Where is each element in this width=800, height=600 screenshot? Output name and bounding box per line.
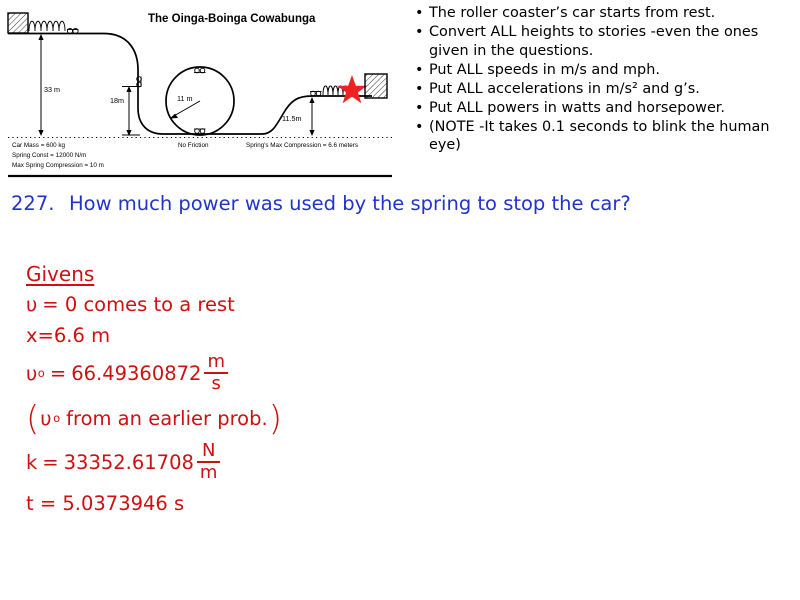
diagram-canvas: The Oinga-Boinga Cowabunga: [0, 0, 400, 185]
list-item-text: Put ALL powers in watts and horsepower.: [429, 100, 725, 116]
track-left: [8, 34, 246, 135]
list-item-text: (NOTE -It takes 0.1 seconds to blink the…: [429, 119, 769, 154]
fraction-numerator: m: [204, 353, 228, 372]
question-number: 227.: [11, 192, 69, 215]
bullet-icon: •: [415, 118, 424, 137]
instructions-list: • The roller coaster’s car starts from r…: [412, 4, 798, 155]
left-spring: [29, 21, 65, 31]
fraction-numerator: N: [199, 442, 218, 461]
car-right: [310, 91, 322, 96]
given-distance: x=6.6 m: [26, 326, 456, 346]
car-loop-top: [194, 68, 206, 73]
given-note-text: from an earlier prob.: [65, 409, 269, 429]
given-distance-text: x=6.6 m: [26, 326, 110, 346]
initial-velocity-value: 66.49360872: [71, 364, 201, 384]
list-item-text: Put ALL accelerations in m/s² and g’s.: [429, 81, 700, 97]
givens-heading: Givens: [26, 262, 94, 286]
label-height-mid: 18m: [110, 96, 124, 105]
list-item: • Put ALL accelerations in m/s² and g’s.: [412, 80, 798, 99]
fraction-denominator: s: [209, 374, 224, 393]
unit-newtons-per-meter: N m: [197, 442, 221, 482]
subscript-o: o: [53, 413, 61, 425]
upsilon-symbol: υ: [26, 364, 37, 384]
left-wall: [8, 13, 28, 33]
list-item-text: The roller coaster’s car starts from res…: [429, 5, 715, 21]
right-wall: [365, 74, 387, 98]
bullet-icon: •: [415, 61, 424, 80]
caption-no-friction: No Friction: [178, 142, 209, 149]
impact-star: [338, 76, 366, 103]
caption-car-mass: Car Mass = 600 kg: [12, 142, 66, 149]
unit-meters-per-second: m s: [204, 353, 228, 393]
equals-sign: =: [50, 364, 66, 384]
list-item-text: Put ALL speeds in m/s and mph.: [429, 62, 660, 78]
diagram-title: The Oinga-Boinga Cowabunga: [148, 13, 316, 25]
question-row: 227. How much power was used by the spri…: [0, 192, 800, 215]
upsilon-symbol: υ: [26, 295, 37, 315]
upsilon-symbol: υ: [39, 409, 52, 429]
caption-spring-const: Spring Const = 12000 N/m: [12, 152, 86, 159]
bullet-icon: •: [415, 99, 424, 118]
given-spring-constant: k = 33352.61708 N m: [26, 443, 456, 483]
list-item: • Put ALL powers in watts and horsepower…: [412, 99, 798, 118]
given-final-velocity-text: = 0 comes to a rest: [42, 295, 234, 315]
given-note: ( υo from an earlier prob. ): [26, 405, 456, 432]
given-time-text: t = 5.0373946 s: [26, 494, 184, 514]
list-item: • (NOTE -It takes 0.1 seconds to blink t…: [412, 118, 798, 155]
caption-spring-max-compression: Spring's Max Compression = 6.6 meters: [246, 142, 358, 149]
given-initial-velocity: υo = 66.49360872 m s: [26, 354, 456, 394]
loop-radius-arrow: [170, 101, 200, 119]
givens-block: Givens υ = 0 comes to a rest x=6.6 m υo …: [26, 262, 456, 525]
equals-sign: =: [42, 453, 58, 473]
open-paren: (: [26, 406, 39, 433]
spring-constant-value: 33352.61708: [64, 453, 194, 473]
caption-max-compression: Max Spring Compression = 10 m: [12, 162, 104, 169]
fraction-denominator: m: [197, 463, 221, 482]
list-item: • The roller coaster’s car starts from r…: [412, 4, 798, 23]
question-text: How much power was used by the spring to…: [69, 192, 800, 215]
close-paren: ): [269, 406, 282, 433]
subscript-o: o: [37, 368, 45, 380]
label-height-left: 33 m: [44, 85, 60, 94]
list-item: • Put ALL speeds in m/s and mph.: [412, 61, 798, 80]
roller-coaster-diagram: The Oinga-Boinga Cowabunga: [0, 0, 400, 185]
label-loop-radius: 11 m: [177, 94, 192, 103]
given-final-velocity: υ = 0 comes to a rest: [26, 295, 456, 315]
bullet-icon: •: [415, 80, 424, 99]
bullet-icon: •: [415, 23, 424, 42]
car-loop-bottom: [194, 129, 206, 134]
list-item: • Convert ALL heights to stories -even t…: [412, 23, 798, 60]
spring-constant-symbol: k: [26, 453, 37, 473]
dimension-33m: [38, 34, 43, 136]
track-right: [246, 96, 372, 134]
label-height-right: 11.5m: [282, 114, 301, 123]
dimension-11-5m: [309, 97, 314, 136]
list-item-text: Convert ALL heights to stories -even the…: [429, 24, 758, 59]
bullet-icon: •: [415, 4, 424, 23]
given-time: t = 5.0373946 s: [26, 494, 456, 514]
